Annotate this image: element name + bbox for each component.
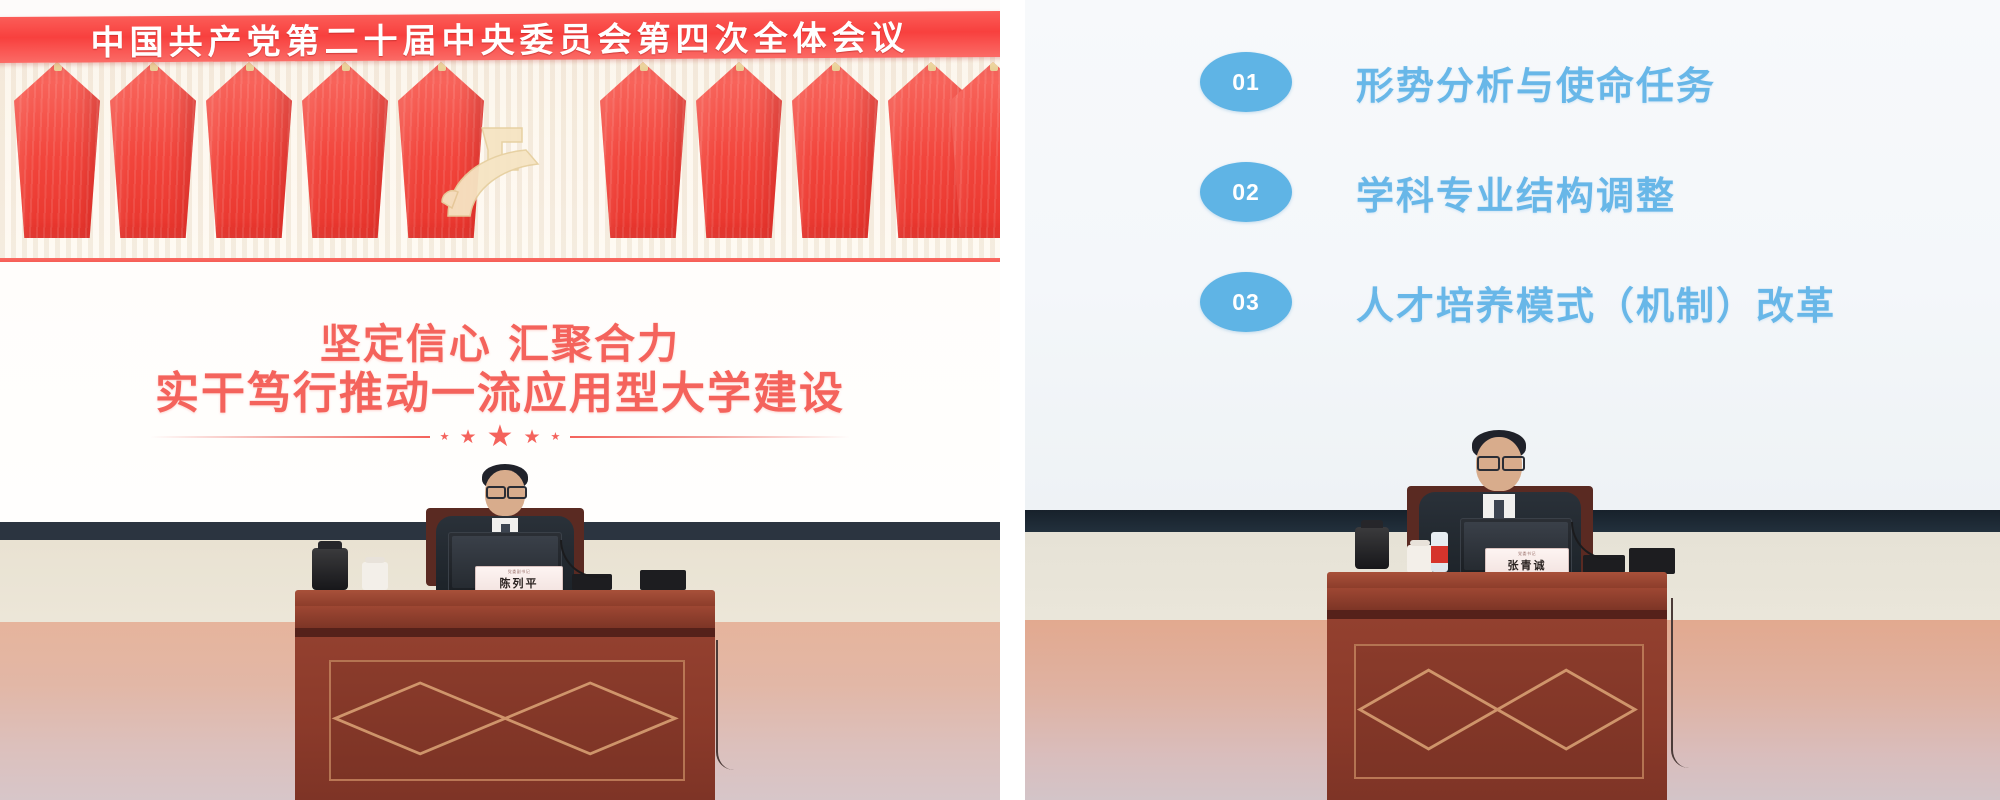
agenda-item-label: 学科专业结构调整 [1356, 165, 1676, 220]
tea-cup [1407, 545, 1433, 573]
agenda-item[interactable]: 03 人才培养模式（机制）改革 [1200, 272, 1960, 332]
left-podium [295, 590, 715, 800]
power-cable [716, 640, 736, 770]
agenda-item[interactable]: 01 形势分析与使命任务 [1200, 52, 1960, 112]
audio-speaker-box [640, 570, 686, 590]
slide-title-line2: 实干笃行推动一流应用型大学建设 [0, 368, 1000, 420]
conference-banner-text: 中国共产党第二十届中央委员会第四次全体会议 [90, 10, 909, 64]
star-icon: ★ [551, 432, 561, 443]
thermos-flask [1355, 527, 1389, 569]
star-divider: ★ ★ ★ ★ ★ [150, 424, 850, 450]
podium-shadow-band [295, 628, 715, 637]
agenda-item[interactable]: 02 学科专业结构调整 [1200, 162, 1960, 222]
podium-body [1327, 619, 1667, 800]
star-icon: ★ [460, 428, 477, 447]
star-icon: ★ [523, 428, 540, 447]
right-conference-photo: 01 形势分析与使命任务 02 学科专业结构调整 03 人才培养模式（机制）改革 [1025, 0, 2000, 800]
decorative-flag [600, 62, 686, 238]
podium-shadow-band [1327, 610, 1667, 619]
decorative-flag [696, 62, 782, 238]
glasses-icon [1477, 456, 1500, 471]
decorative-flag [206, 62, 292, 238]
slide-title-line1: 坚定信心 汇聚合力 [0, 320, 1000, 368]
podium-top [295, 590, 715, 606]
agenda-item-label: 形势分析与使命任务 [1356, 55, 1716, 110]
agenda-number-badge: 01 [1200, 52, 1292, 112]
cpc-hammer-sickle-icon [430, 120, 565, 230]
right-podium [1327, 572, 1667, 800]
divider-line-right [570, 436, 850, 438]
power-cable [1671, 598, 1693, 768]
water-bottle [1431, 532, 1448, 572]
podium-lip [1327, 588, 1667, 610]
agenda-number-badge: 03 [1200, 272, 1292, 332]
agenda-list: 01 形势分析与使命任务 02 学科专业结构调整 03 人才培养模式（机制）改革 [1200, 52, 1960, 382]
audio-speaker-box [1629, 548, 1675, 574]
decorative-flag [14, 62, 100, 238]
podium-top [1327, 572, 1667, 588]
decorative-flag [792, 62, 878, 238]
podium-diamond-inlay [312, 663, 698, 774]
conference-banner: 中国共产党第二十届中央委员会第四次全体会议 [0, 11, 1000, 63]
decorative-flag [302, 62, 388, 238]
podium-body [295, 637, 715, 800]
photo-pair-stage: 中国共产党第二十届中央委员会第四次全体会议 坚定信心 汇聚合力 实干笃行推动一流… [0, 0, 2000, 800]
podium-lip [295, 606, 715, 628]
glasses-icon [507, 486, 527, 499]
star-icon: ★ [487, 422, 514, 452]
tea-cup [362, 562, 388, 590]
nameplate-name: 陈列平 [500, 575, 539, 591]
left-conference-photo: 中国共产党第二十届中央委员会第四次全体会议 坚定信心 汇聚合力 实干笃行推动一流… [0, 0, 1000, 800]
divider-line-left [150, 436, 430, 438]
glasses-icon [486, 486, 506, 499]
slide-title: 坚定信心 汇聚合力 实干笃行推动一流应用型大学建设 [0, 320, 1000, 420]
left-stage-backdrop: 中国共产党第二十届中央委员会第四次全体会议 坚定信心 汇聚合力 实干笃行推动一流… [0, 0, 1000, 522]
thermos-flask [312, 548, 348, 590]
agenda-item-label: 人才培养模式（机制）改革 [1356, 275, 1836, 330]
star-icon: ★ [440, 432, 450, 443]
agenda-number-badge: 02 [1200, 162, 1292, 222]
glasses-icon [1502, 456, 1525, 471]
podium-diamond-inlay [1341, 648, 1654, 771]
nameplate-name: 张青诚 [1508, 557, 1547, 573]
decorative-flag [110, 62, 196, 238]
